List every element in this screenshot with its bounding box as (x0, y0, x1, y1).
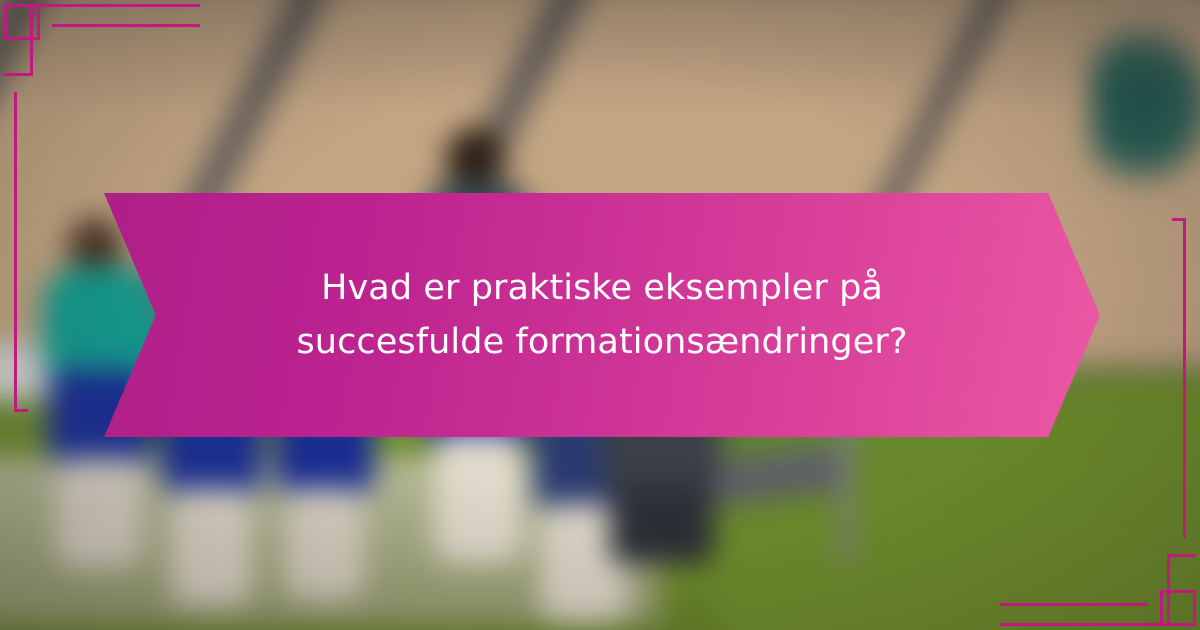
corner-square-icon (4, 4, 40, 40)
corner-square-icon (1160, 590, 1196, 626)
corner-line (30, 4, 33, 76)
social-card: Hvad er praktiske eksempler på succesful… (0, 0, 1200, 630)
corner-line (30, 4, 200, 7)
corner-ornament-top-left (0, 0, 200, 200)
corner-rail-cap (14, 409, 28, 412)
corner-rail (1183, 218, 1186, 538)
corner-line (4, 73, 33, 76)
corner-rail (14, 92, 17, 412)
corner-ornament-bottom-right (1000, 430, 1200, 630)
corner-line (1000, 603, 1148, 606)
corner-line (1000, 623, 1170, 626)
headline-banner: Hvad er praktiske eksempler på succesful… (104, 193, 1100, 437)
headline-text: Hvad er praktiske eksempler på succesful… (207, 261, 997, 370)
corner-line (1167, 554, 1170, 626)
corner-line (1167, 554, 1196, 557)
corner-rail-cap (1172, 218, 1186, 221)
corner-line (52, 24, 200, 27)
